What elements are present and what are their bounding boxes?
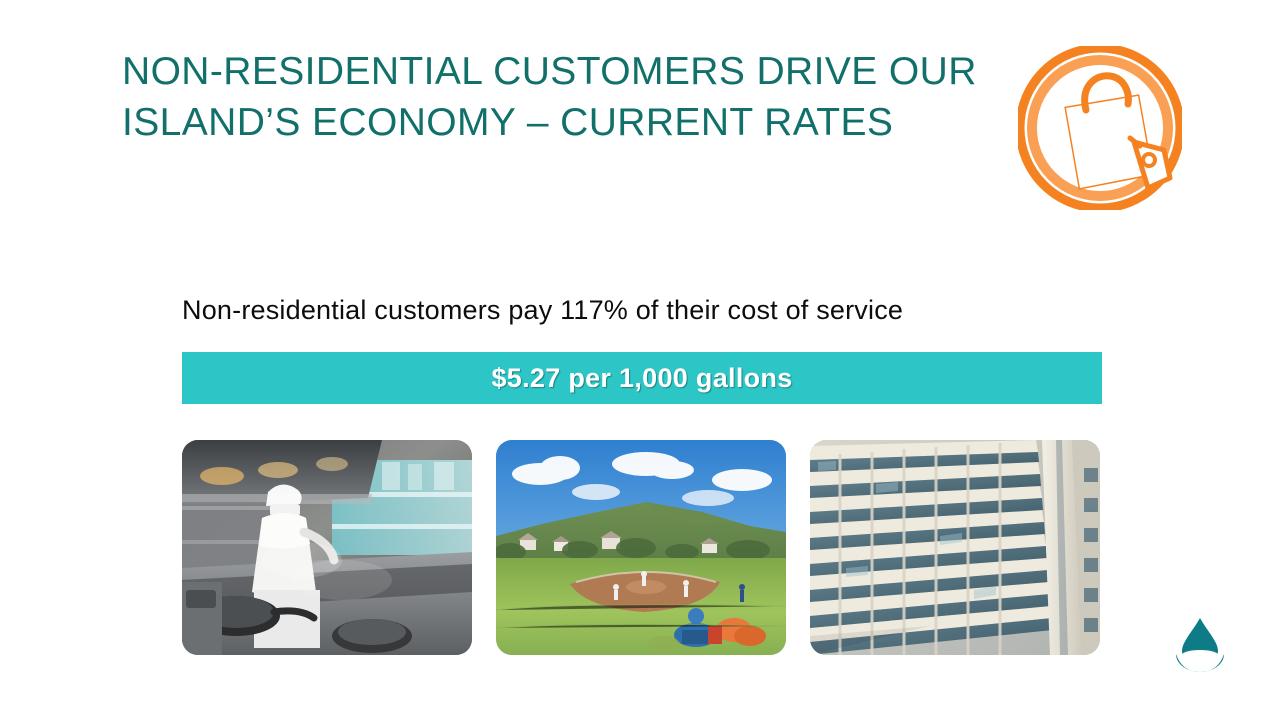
subhead-text: Non-residential customers pay 117% of th… [182,295,1102,326]
shopping-bag-icon [1018,46,1182,210]
kitchen-photo [182,440,472,655]
page-title: NON-RESIDENTIAL CUSTOMERS DRIVE OUR ISLA… [122,46,1002,148]
rate-band-text: $5.27 per 1,000 gallons [491,363,792,394]
photo-row [182,440,1102,655]
ballfield-photo [496,440,786,655]
water-drop-icon [1168,616,1232,672]
rate-band: $5.27 per 1,000 gallons [182,352,1102,404]
hotel-photo [810,440,1100,655]
